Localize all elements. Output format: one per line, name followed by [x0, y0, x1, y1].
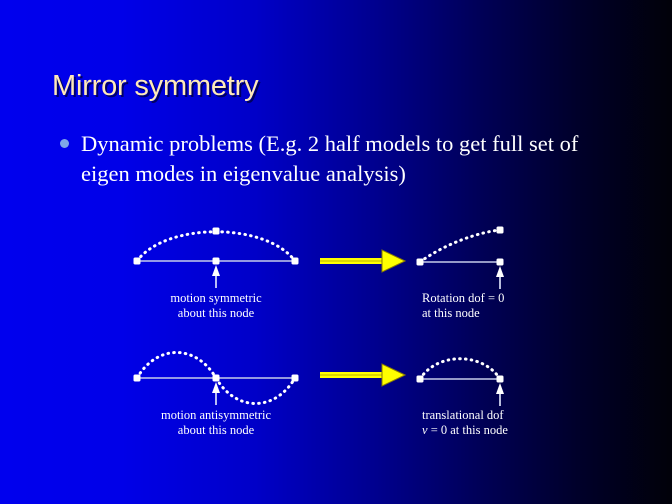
- node-pointer-arrow: [496, 383, 504, 406]
- mode-shape-curve: [420, 359, 500, 379]
- caption-line-2-rest: = 0 at this node: [428, 423, 508, 437]
- mode-shape-curve: [137, 353, 295, 404]
- caption-line-2: v = 0 at this node: [422, 423, 612, 438]
- bullet-item: Dynamic problems (E.g. 2 half models to …: [60, 129, 620, 189]
- caption-symmetric-right: Rotation dof = 0 at this node: [422, 291, 612, 321]
- row2-full-model: [134, 353, 299, 406]
- caption-line-1: motion symmetric: [118, 291, 314, 306]
- mode-shape-curve: [420, 230, 500, 262]
- node-pointer-arrow: [212, 265, 220, 288]
- node-pointer-arrow: [212, 382, 220, 405]
- caption-antisymmetric-left: motion antisymmetric about this node: [118, 408, 314, 438]
- row1-half-model: [417, 227, 505, 290]
- bullet-dot-icon: [60, 139, 69, 148]
- row1-full-model: [134, 228, 299, 289]
- row2-transform-arrow: [320, 364, 405, 386]
- bullet-item-label: Dynamic problems (E.g. 2 half models to …: [81, 129, 601, 189]
- caption-line-1: translational dof: [422, 408, 612, 423]
- caption-line-2: at this node: [422, 306, 612, 321]
- row1-transform-arrow: [320, 250, 405, 272]
- caption-antisymmetric-right: translational dof v = 0 at this node: [422, 408, 612, 438]
- row2-half-model: [417, 359, 505, 406]
- slide-canvas: Mirror symmetry Dynamic problems (E.g. 2…: [0, 0, 672, 504]
- node-pointer-arrow: [496, 266, 504, 289]
- caption-symmetric-left: motion symmetric about this node: [118, 291, 314, 321]
- mode-shape-curve: [137, 232, 295, 261]
- caption-line-2: about this node: [118, 306, 314, 321]
- caption-line-2: about this node: [118, 423, 314, 438]
- page-title: Mirror symmetry: [52, 70, 258, 102]
- caption-line-1: motion antisymmetric: [118, 408, 314, 423]
- caption-line-1: Rotation dof = 0: [422, 291, 612, 306]
